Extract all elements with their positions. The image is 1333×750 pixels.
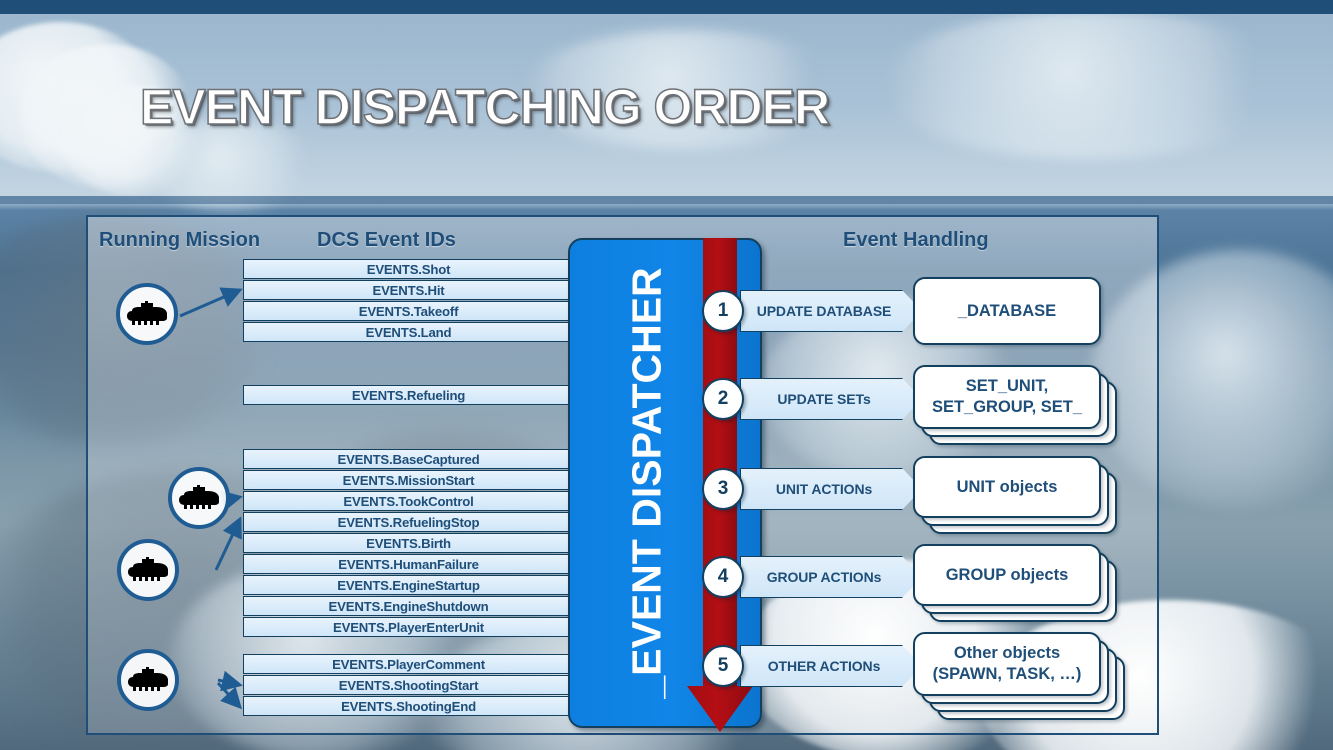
result-group-5: Other objects (SPAWN, TASK, …) <box>913 632 1138 732</box>
result-group-2: SET_UNIT, SET_GROUP, SET_ <box>913 365 1133 447</box>
tank-icon <box>124 301 170 327</box>
result-group-4: GROUP objects <box>913 544 1133 626</box>
result-group-1: _DATABASE <box>913 277 1128 347</box>
step-number-3: 3 <box>702 468 744 510</box>
column-header-running-mission: Running Mission <box>99 229 260 252</box>
step-number-4: 4 <box>702 556 744 598</box>
action-arrow-1[interactable]: UPDATE DATABASE <box>740 290 922 332</box>
action-arrow-2[interactable]: UPDATE SETs <box>740 378 922 420</box>
header-band-divider <box>0 196 1333 204</box>
page-title: EVENT DISPATCHING ORDER <box>140 78 829 136</box>
result-box-4[interactable]: GROUP objects <box>913 544 1101 606</box>
result-box-2[interactable]: SET_UNIT, SET_GROUP, SET_ <box>913 365 1101 429</box>
column-header-event-handling: Event Handling <box>843 229 989 252</box>
result-box-3[interactable]: UNIT objects <box>913 456 1101 518</box>
top-navy-strip <box>0 0 1333 14</box>
result-box-label: SET_UNIT, SET_GROUP, SET_ <box>932 376 1082 417</box>
tank-icon-circle-1 <box>116 283 178 345</box>
result-box-5[interactable]: Other objects (SPAWN, TASK, …) <box>913 632 1101 696</box>
result-group-3: UNIT objects <box>913 456 1133 538</box>
step-number-2: 2 <box>702 378 744 420</box>
slide-stage: EVENT DISPATCHING ORDER Running Mission … <box>0 0 1333 750</box>
event-dispatcher-label: _EVENT DISPATCHER <box>624 267 671 698</box>
result-box-label: GROUP objects <box>946 565 1069 586</box>
column-header-dcs-event-ids: DCS Event IDs <box>317 229 456 252</box>
tank-icon <box>125 557 171 583</box>
action-arrow-3[interactable]: UNIT ACTIONs <box>740 468 922 510</box>
result-box-label: UNIT objects <box>957 477 1058 498</box>
tank-icon-circle-3 <box>117 539 179 601</box>
action-arrow-5[interactable]: OTHER ACTIONs <box>740 645 922 687</box>
tank-icon <box>125 667 171 693</box>
result-box-label: Other objects (SPAWN, TASK, …) <box>933 643 1082 684</box>
tank-icon-circle-2 <box>168 467 230 529</box>
tank-icon-circle-4 <box>117 649 179 711</box>
step-number-1: 1 <box>702 290 744 332</box>
result-box-label: _DATABASE <box>958 301 1056 322</box>
tank-icon <box>176 485 222 511</box>
action-arrow-4[interactable]: GROUP ACTIONs <box>740 556 922 598</box>
result-box-1[interactable]: _DATABASE <box>913 277 1101 345</box>
step-number-5: 5 <box>702 645 744 687</box>
